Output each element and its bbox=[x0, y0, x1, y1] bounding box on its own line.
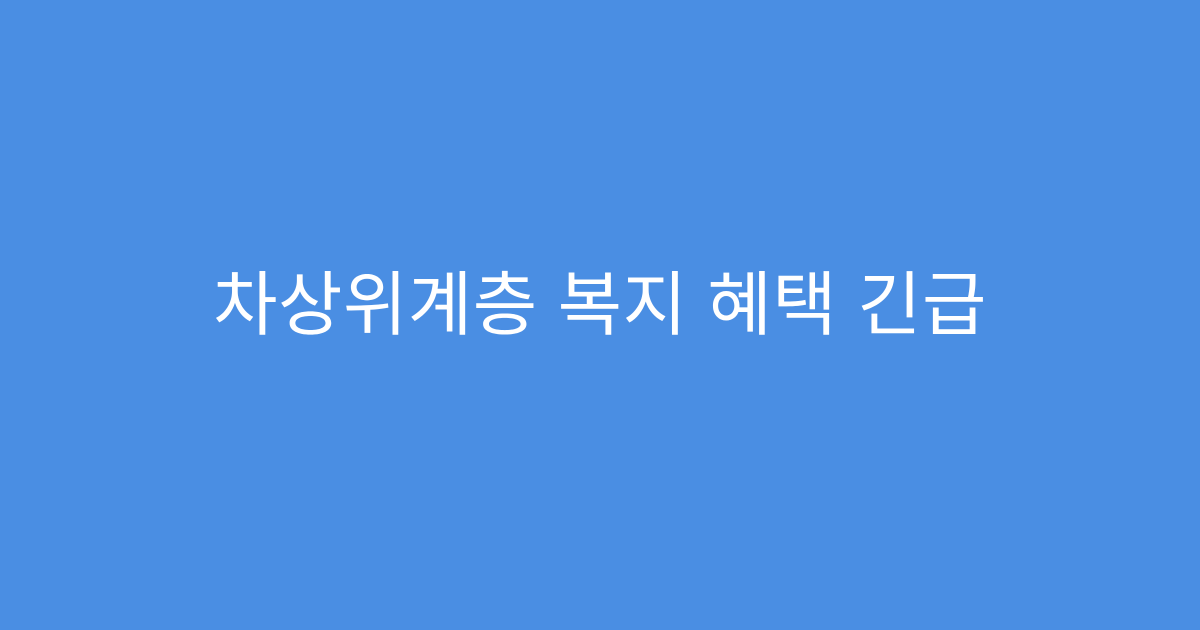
banner-card: 차상위계층 복지 혜택 긴급 bbox=[0, 0, 1200, 630]
headline-block: 차상위계층 복지 혜택 긴급 bbox=[0, 265, 1200, 346]
banner-headline: 차상위계층 복지 혜택 긴급 bbox=[213, 265, 987, 346]
